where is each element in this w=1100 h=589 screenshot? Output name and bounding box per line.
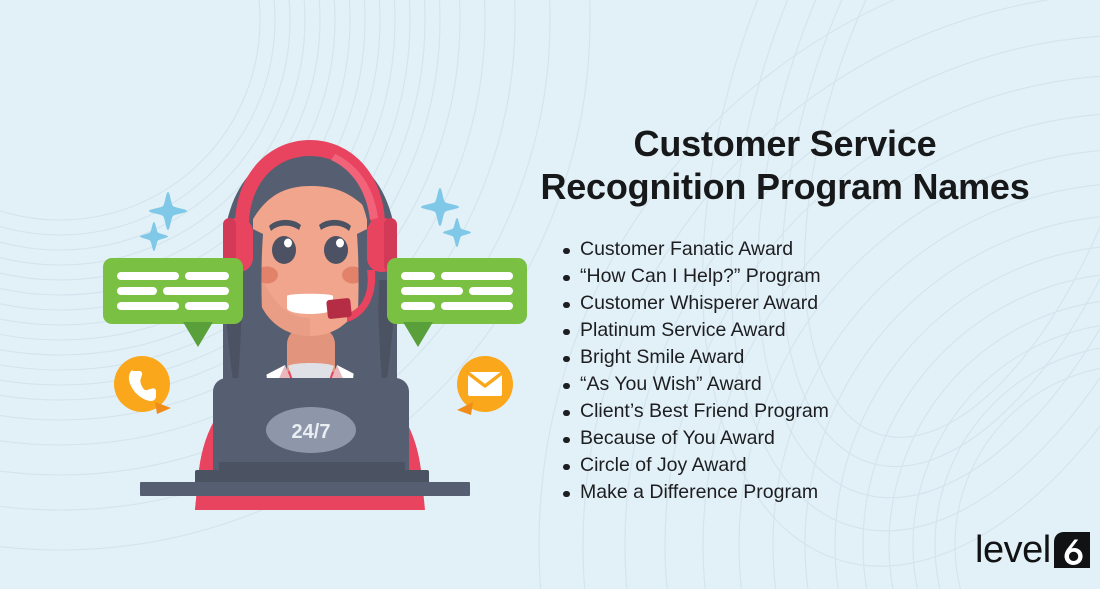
list-item: Make a Difference Program [563, 479, 1065, 506]
laptop: 24/7 [195, 378, 429, 484]
level6-logo: level [975, 528, 1092, 572]
laptop-badge-text: 24/7 [292, 421, 331, 443]
sparkle-left-icon [140, 192, 187, 251]
customer-service-agent-illustration: 24/7 [95, 130, 535, 510]
agent-eye-right [324, 236, 348, 264]
text-column: Customer Service Recognition Program Nam… [505, 122, 1065, 506]
list-item: “How Can I Help?” Program [563, 263, 1065, 290]
list-item: Platinum Service Award [563, 317, 1065, 344]
speech-bubble-left [103, 258, 243, 347]
list-item: Customer Whisperer Award [563, 290, 1065, 317]
list-item: “As You Wish” Award [563, 371, 1065, 398]
envelope-icon [468, 372, 502, 396]
list-item: Bright Smile Award [563, 344, 1065, 371]
list-item: Customer Fanatic Award [563, 236, 1065, 263]
agent-eye-left [272, 236, 296, 264]
page-title-line-1: Customer Service [505, 122, 1065, 165]
list-item: Because of You Award [563, 425, 1065, 452]
poster-canvas: 24/7 Customer Service Recognition Progra… [0, 0, 1100, 589]
phone-icon-badge [114, 356, 171, 414]
logo-wordmark: level [975, 531, 1051, 569]
list-item: Client’s Best Friend Program [563, 398, 1065, 425]
page-title: Customer Service Recognition Program Nam… [505, 122, 1065, 208]
sparkle-right-icon [421, 188, 471, 247]
list-item: Circle of Joy Award [563, 452, 1065, 479]
logo-mark-icon [1052, 530, 1092, 570]
page-title-line-2: Recognition Program Names [505, 165, 1065, 208]
award-name-list: Customer Fanatic Award “How Can I Help?”… [563, 236, 1065, 506]
desk-bar [140, 482, 470, 496]
agent-mic [326, 298, 352, 319]
agent-smile [287, 294, 333, 314]
